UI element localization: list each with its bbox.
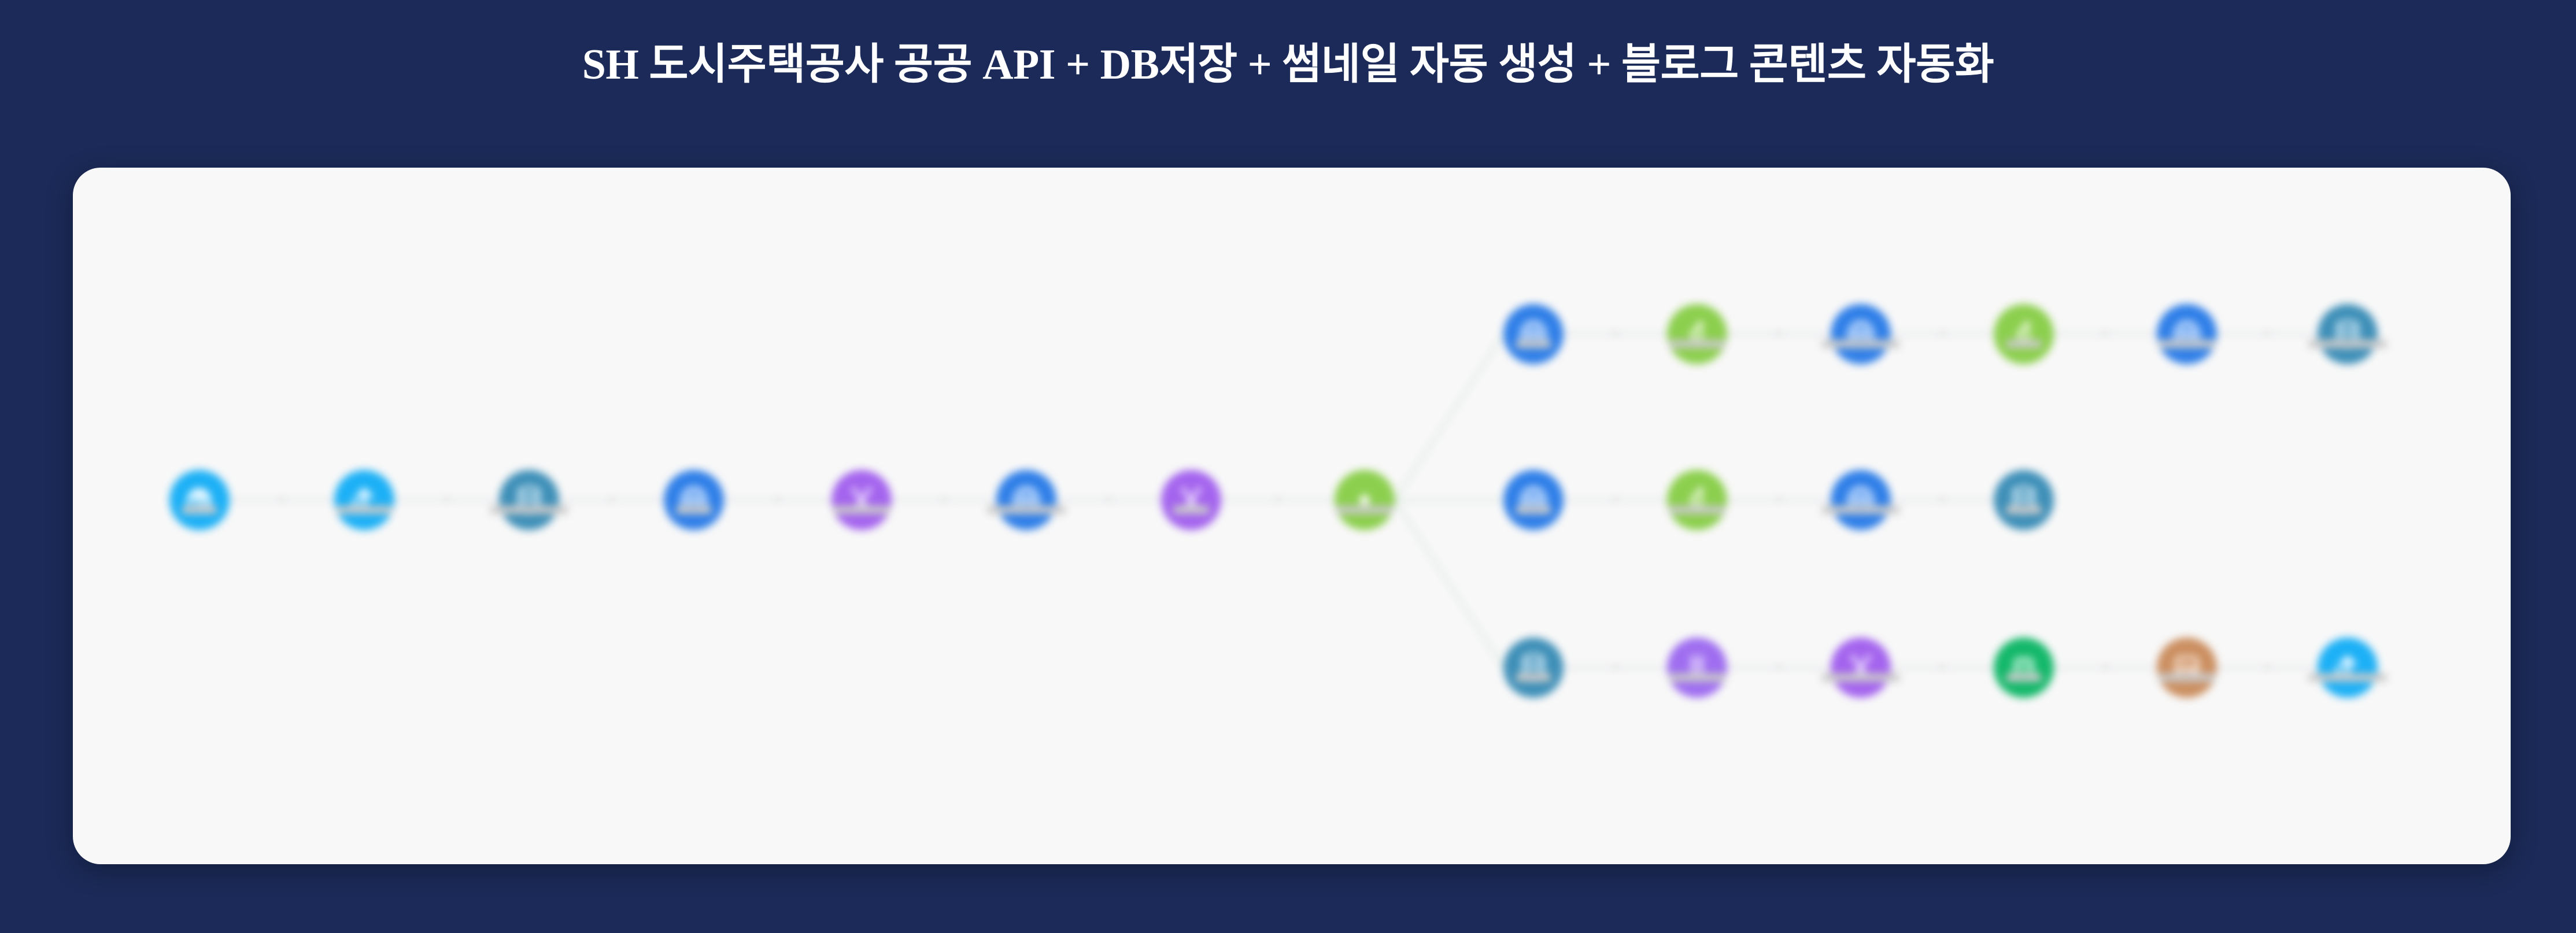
workflow-node-n8n-node[interactable]	[334, 470, 394, 530]
edge-plus-icon[interactable]: +	[442, 495, 452, 505]
edge-plus-icon[interactable]: +	[1611, 329, 1620, 339]
edge-plus-icon[interactable]: +	[1775, 663, 1784, 672]
workflow-node-split-out[interactable]	[1667, 638, 1727, 698]
workflow-node-filter[interactable]	[1667, 304, 1727, 364]
edge-plus-icon[interactable]: +	[2263, 329, 2272, 339]
workflow-node-label	[2309, 340, 2387, 348]
workflow-node-label	[1822, 506, 1899, 514]
workflow-node-code[interactable]	[1161, 470, 1221, 530]
workflow-node-label	[988, 506, 1066, 514]
workflow-node-label	[2159, 673, 2215, 682]
edge-plus-icon[interactable]: +	[278, 495, 287, 505]
workflow-node-image-edit[interactable]	[2157, 638, 2217, 698]
page-title: SH 도시주택공사 공공 API + DB저장 + 썸네일 자동 생성 + 블로…	[0, 42, 2576, 88]
edge-plus-icon[interactable]: +	[1775, 329, 1784, 339]
edge-plus-icon[interactable]: +	[773, 495, 782, 505]
workflow-node-label	[1669, 340, 1725, 348]
edge-plus-icon[interactable]: +	[1938, 495, 1947, 505]
workflow-node-filter[interactable]	[1994, 304, 2054, 364]
workflow-node-http-request[interactable]	[996, 470, 1056, 530]
workflow-node-label	[1669, 673, 1725, 682]
workflow-node-label	[2006, 340, 2042, 348]
edge-plus-icon[interactable]: +	[2101, 663, 2110, 672]
workflow-node-label	[1516, 673, 1551, 682]
workflow-node-label	[1336, 506, 1394, 514]
workflow-node-label	[2309, 673, 2387, 682]
workflow-node-http-request[interactable]	[1503, 304, 1564, 364]
edge-plus-icon[interactable]: +	[1938, 663, 1947, 672]
edge-plus-icon[interactable]: +	[607, 495, 616, 505]
edge-plus-icon[interactable]: +	[1775, 495, 1784, 505]
edge-plus-icon[interactable]: +	[2101, 329, 2110, 339]
edge-plus-icon[interactable]: +	[1104, 495, 1114, 505]
workflow-node-merge[interactable]	[1994, 638, 2054, 698]
workflow-node-code[interactable]	[1831, 638, 1891, 698]
edge-plus-icon[interactable]: +	[1611, 495, 1620, 505]
workflow-node-http-request[interactable]	[1831, 304, 1891, 364]
workflow-node-database[interactable]	[2318, 304, 2378, 364]
workflow-node-label	[1516, 506, 1551, 514]
edge-plus-icon[interactable]: +	[940, 495, 949, 505]
workflow-node-label	[2159, 340, 2215, 348]
workflow-node-label	[182, 506, 217, 514]
workflow-canvas-card: ++++++++++++++++++++	[73, 168, 2511, 864]
workflow-node-label	[1516, 340, 1551, 348]
edge-plus-icon[interactable]: +	[1273, 495, 1283, 505]
workflow-node-label	[490, 506, 568, 514]
workflow-node-database[interactable]	[499, 470, 559, 530]
edge-plus-icon[interactable]: +	[2263, 663, 2272, 672]
workflow-node-label	[2006, 506, 2042, 514]
edge-plus-icon[interactable]: +	[1938, 329, 1947, 339]
workflow-node-split-branch[interactable]	[1335, 470, 1395, 530]
workflow-node-n8n-trigger[interactable]	[169, 470, 230, 530]
workflow-node-label	[677, 506, 712, 514]
workflow-node-database[interactable]	[1503, 638, 1564, 698]
workflow-edge-layer	[73, 168, 2511, 864]
workflow-node-label	[1173, 506, 1209, 514]
workflow-node-code[interactable]	[831, 470, 892, 530]
workflow-node-n8n-node[interactable]	[2318, 638, 2378, 698]
workflow-node-http-request[interactable]	[2157, 304, 2217, 364]
workflow-node-database[interactable]	[1994, 470, 2054, 530]
workflow-node-label	[1822, 673, 1899, 682]
workflow-node-filter[interactable]	[1667, 470, 1727, 530]
edge-plus-icon[interactable]: +	[1611, 663, 1620, 672]
workflow-node-label	[833, 506, 890, 514]
workflow-node-http-request[interactable]	[1831, 470, 1891, 530]
workflow-node-label	[337, 506, 393, 514]
workflow-node-label	[2006, 673, 2042, 682]
workflow-node-label	[1822, 340, 1899, 348]
workflow-node-label	[1669, 506, 1725, 514]
workflow-node-http-request[interactable]	[1503, 470, 1564, 530]
workflow-blur-layer: ++++++++++++++++++++	[73, 168, 2511, 864]
workflow-node-http-request[interactable]	[664, 470, 724, 530]
